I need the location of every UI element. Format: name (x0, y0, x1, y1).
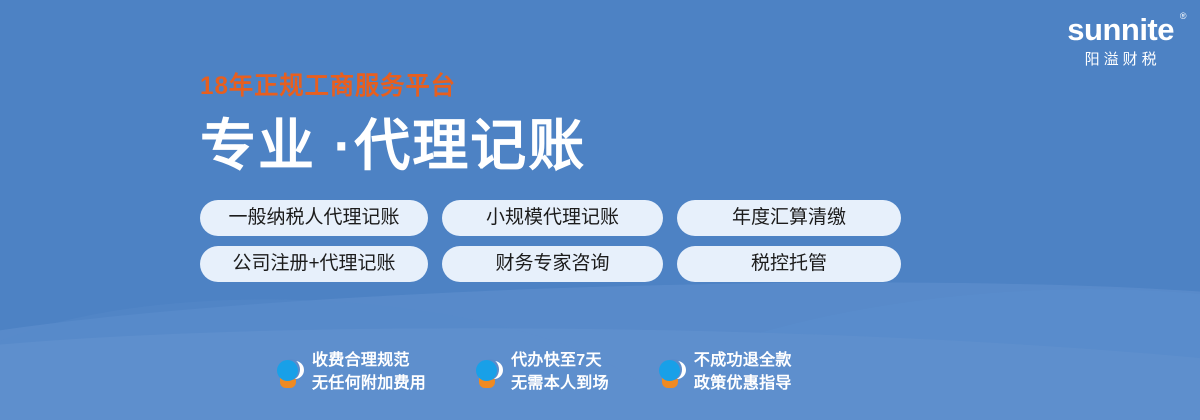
feature-text-speed: 代办快至7天 无需本人到场 (511, 350, 609, 395)
feature-line-2: 政策优惠指导 (694, 373, 792, 396)
badge-icon (475, 358, 502, 388)
promo-banner: sunnite ® 阳溢财税 18年正规工商服务平台 专业 ·代理记账 一般纳税… (0, 0, 1200, 420)
feature-text-pricing: 收费合理规范 无任何附加费用 (312, 350, 426, 395)
service-pill-row-2: 公司注册+代理记账 财务专家咨询 税控托管 (200, 246, 901, 282)
page-title: 专业 ·代理记账 (200, 115, 586, 178)
service-pill-annual-settlement[interactable]: 年度汇算清缴 (677, 200, 901, 236)
feature-line-2: 无任何附加费用 (312, 373, 426, 396)
service-pill-tax-control-hosting[interactable]: 税控托管 (677, 246, 901, 282)
service-pill-expert-consulting[interactable]: 财务专家咨询 (442, 246, 663, 282)
service-pill-general-taxpayer[interactable]: 一般纳税人代理记账 (200, 200, 428, 236)
feature-item-guarantee: 不成功退全款 政策优惠指导 (658, 350, 792, 395)
badge-icon (276, 358, 303, 388)
headline-block: 18年正规工商服务平台 专业 ·代理记账 (200, 74, 586, 178)
eyebrow-text: 18年正规工商服务平台 (200, 74, 575, 99)
feature-text-guarantee: 不成功退全款 政策优惠指导 (694, 350, 792, 395)
feature-item-pricing: 收费合理规范 无任何附加费用 (276, 350, 426, 395)
feature-list: 收费合理规范 无任何附加费用 代办快至7天 无需本人到场 (276, 350, 792, 395)
badge-icon (658, 358, 685, 388)
logo-wordmark-text: sunnite (1067, 12, 1174, 47)
feature-line-1: 收费合理规范 (312, 350, 426, 373)
feature-line-2: 无需本人到场 (511, 373, 609, 396)
feature-line-1: 代办快至7天 (511, 350, 609, 373)
feature-item-speed: 代办快至7天 无需本人到场 (475, 350, 609, 395)
registered-trademark-icon: ® (1180, 12, 1186, 21)
service-pill-small-scale[interactable]: 小规模代理记账 (442, 200, 663, 236)
brand-logo[interactable]: sunnite ® 阳溢财税 (1067, 14, 1174, 67)
service-pill-row-1: 一般纳税人代理记账 小规模代理记账 年度汇算清缴 (200, 200, 901, 236)
logo-chinese-name: 阳溢财税 (1067, 52, 1174, 67)
service-pill-group: 一般纳税人代理记账 小规模代理记账 年度汇算清缴 公司注册+代理记账 财务专家咨… (200, 200, 901, 292)
feature-line-1: 不成功退全款 (694, 350, 792, 373)
service-pill-company-registration[interactable]: 公司注册+代理记账 (200, 246, 428, 282)
logo-wordmark: sunnite ® (1067, 14, 1174, 45)
